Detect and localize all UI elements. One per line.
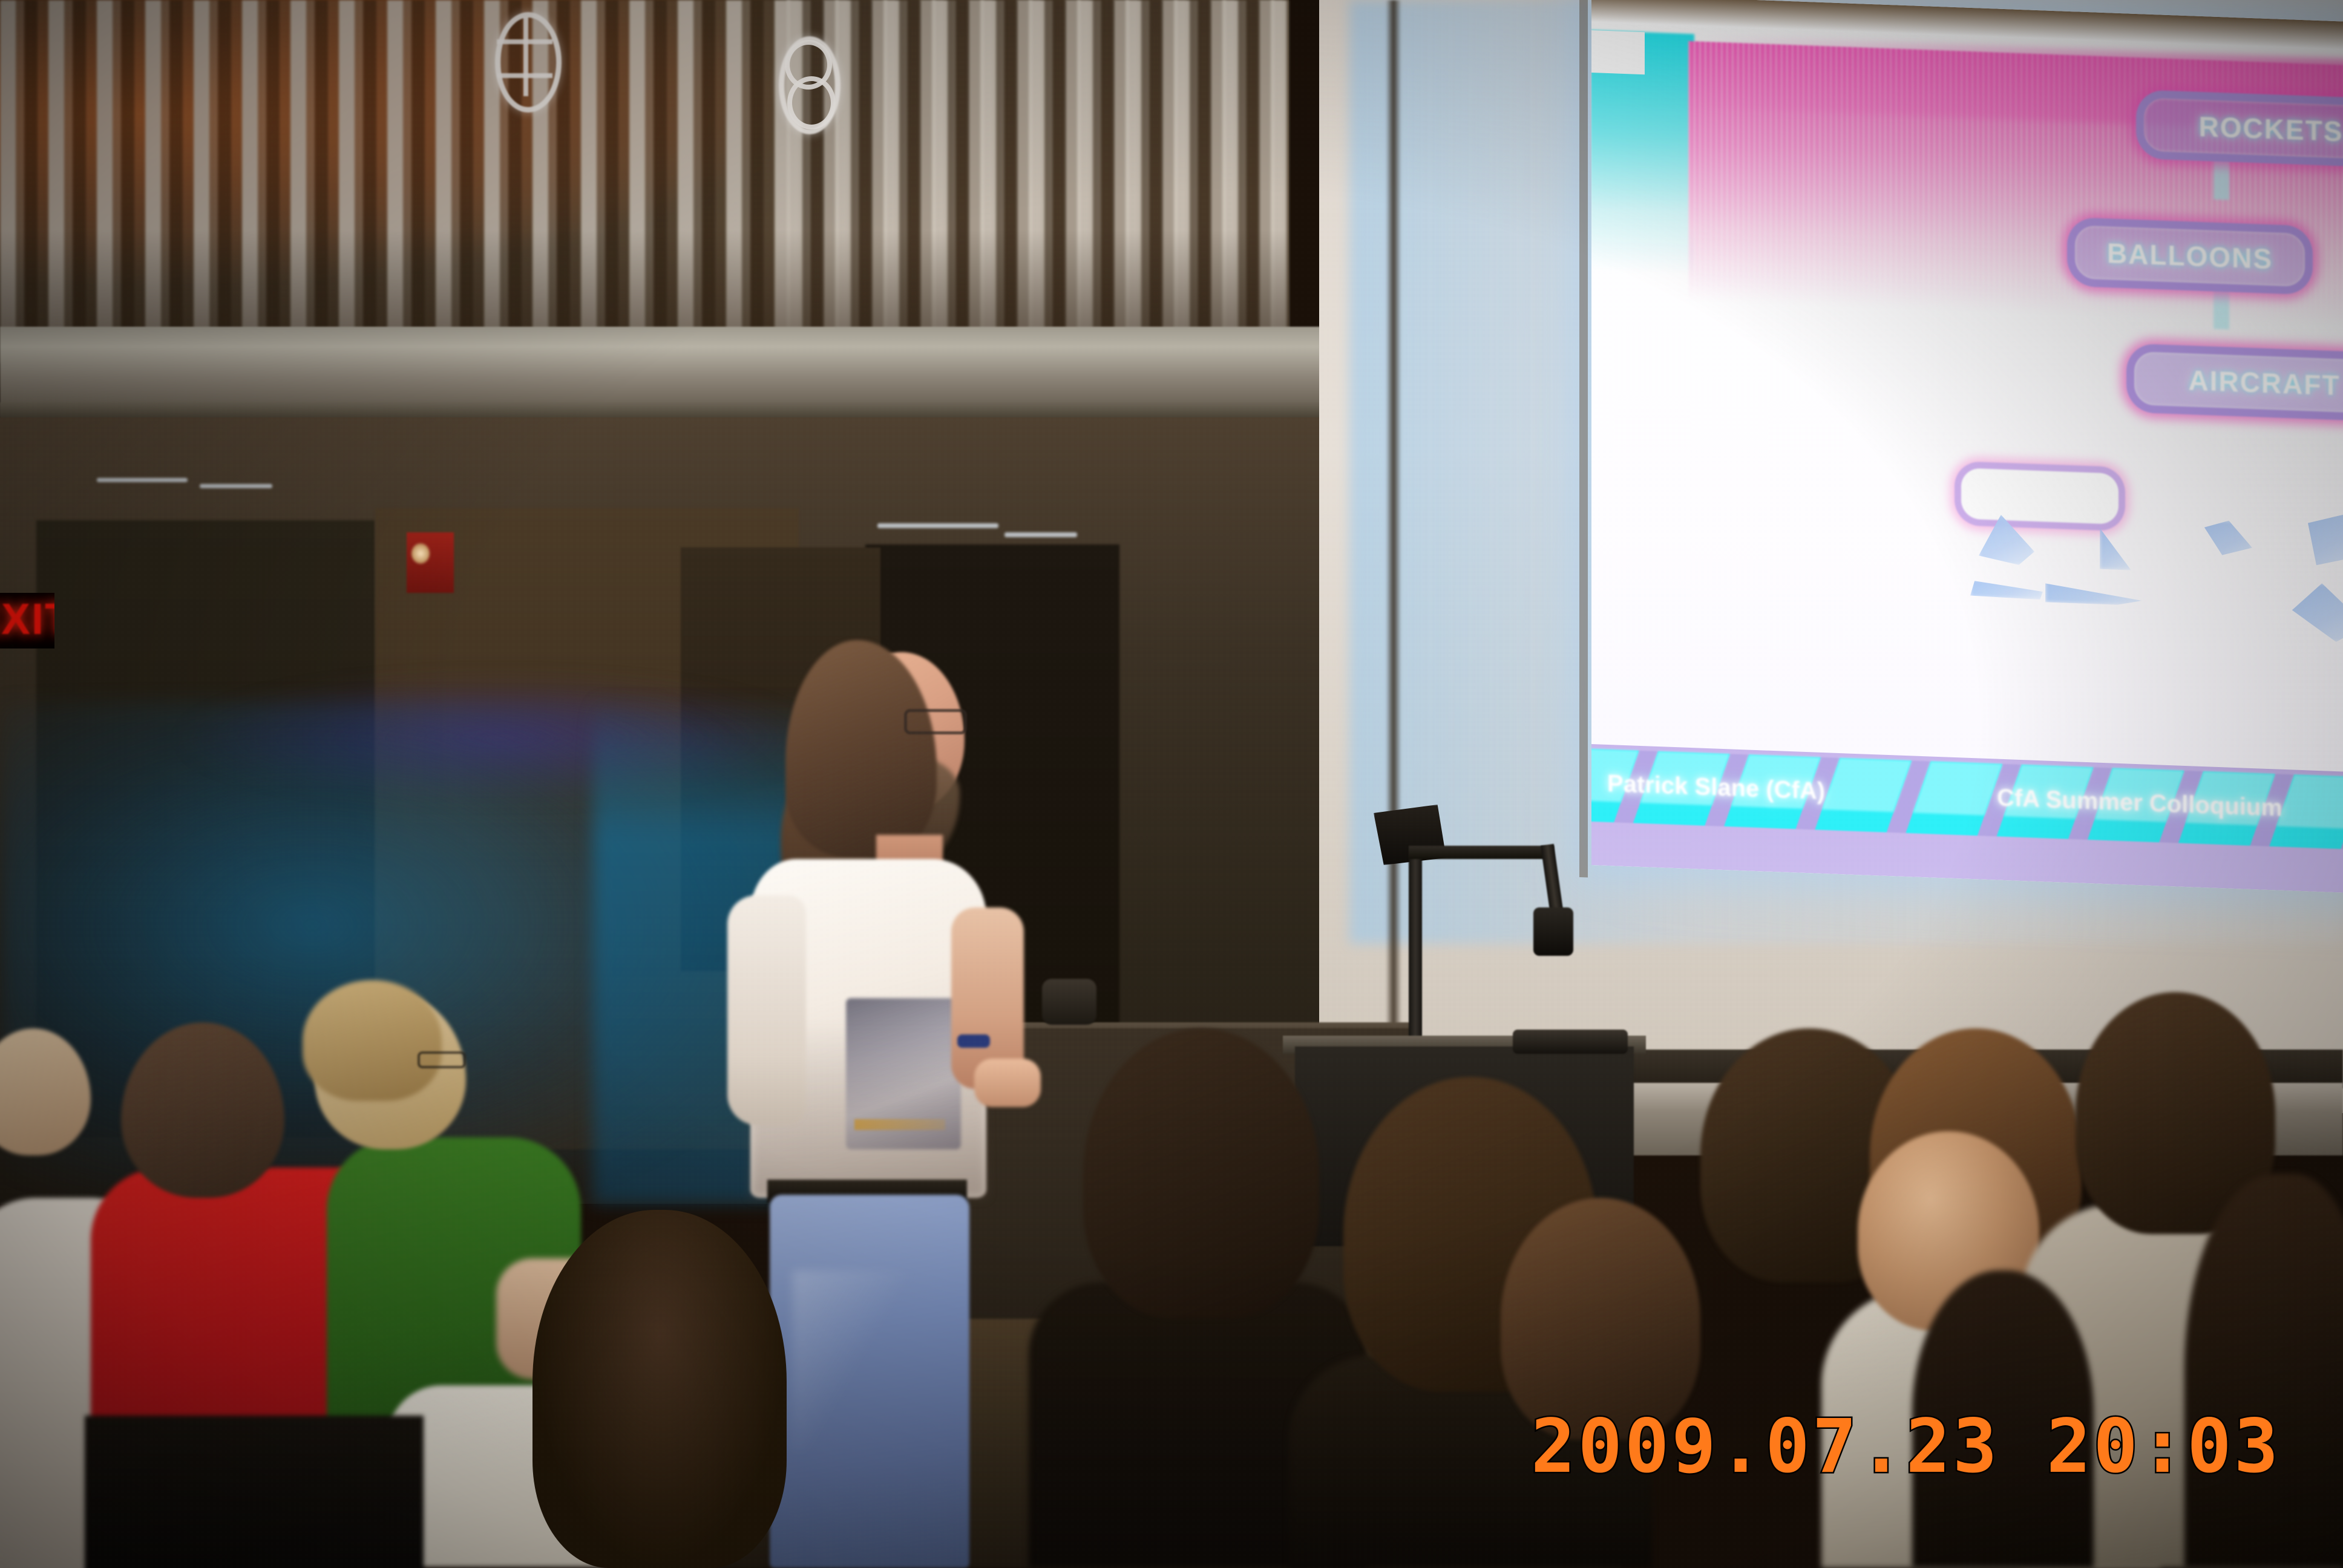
ceiling-light-strip: [877, 523, 998, 528]
slide-callout-small: [1955, 461, 2125, 531]
projection-screen: ROCKETS BALLOONS AIRCRAFT Patrick Slane …: [1591, 0, 2343, 893]
microphone-puck: [1042, 979, 1096, 1025]
audience-member-head: [1083, 1028, 1319, 1319]
slide-callout-aircraft: AIRCRAFT: [2126, 343, 2343, 422]
lecture-photograph: EXIT ROCKETS BALLOONS AIRCRAFT: [0, 0, 2343, 1568]
audience-member-glasses-icon: [418, 1051, 466, 1068]
slide-callout-rockets: ROCKETS: [2136, 90, 2343, 168]
slide-connector-dash: [2214, 289, 2229, 330]
auditorium-seat: [85, 1416, 424, 1568]
fire-alarm-strobe-icon: [411, 543, 430, 564]
audience-member-hair: [303, 980, 442, 1101]
document-camera-arm: [1409, 846, 1554, 859]
ceiling-light-strip: [200, 484, 272, 488]
fire-alarm-box: [407, 532, 454, 593]
exit-sign-label: EXIT: [0, 593, 54, 646]
slide-callout-balloons: BALLOONS: [2067, 217, 2313, 295]
camera-timestamp: 2009.07.23 20:03: [1531, 1403, 2281, 1489]
document-camera-column: [1409, 847, 1422, 1040]
speaker-left-arm: [727, 895, 806, 1125]
oval-ring-ornament-figure-eight-icon: [779, 36, 839, 133]
oval-ring-ornament-barred-icon: [495, 12, 562, 113]
speaker-right-hand: [974, 1059, 1041, 1107]
slide-cyan-step-notch: [1591, 30, 1645, 74]
speaker-wristband: [957, 1034, 990, 1048]
slide-connector-dash: [2214, 160, 2229, 200]
exit-sign: EXIT: [0, 593, 54, 648]
ceiling-light-strip: [97, 478, 188, 482]
speaker-glasses-icon: [904, 709, 967, 734]
speaker-jeans-highlight: [793, 1270, 914, 1452]
wall-column-edge: [1386, 0, 1401, 1028]
ceiling-light-strip: [1004, 532, 1077, 537]
audience-member-head: [532, 1210, 787, 1568]
document-camera-base: [1513, 1030, 1628, 1054]
document-camera-lens: [1533, 907, 1573, 956]
